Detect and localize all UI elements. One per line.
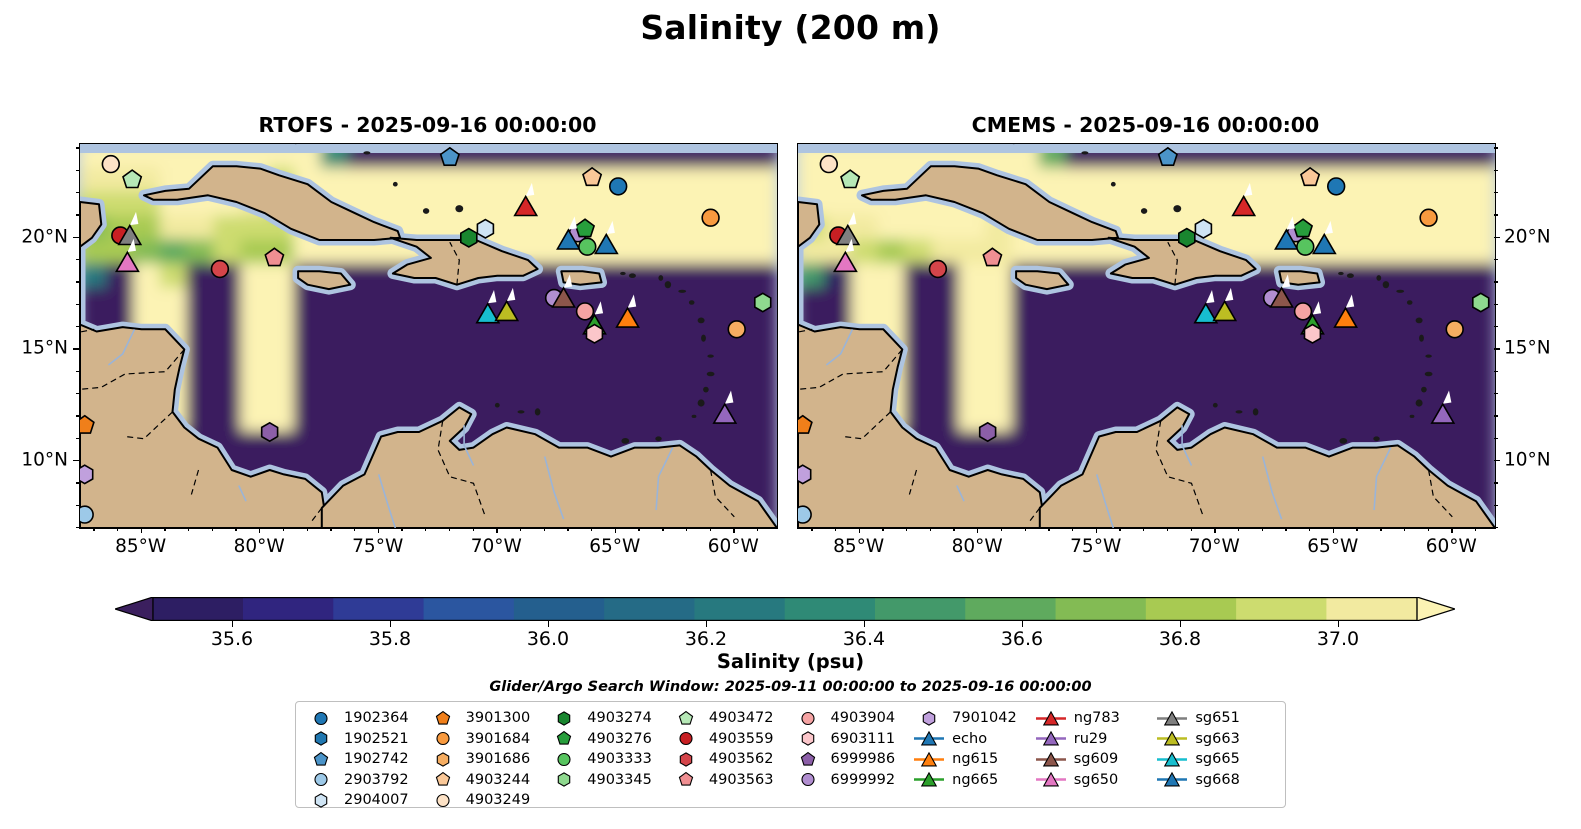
map-render-rtofs	[80, 144, 777, 528]
y-major-tick-1-1	[1494, 348, 1500, 349]
x-major-tick-1-2	[1096, 527, 1097, 533]
legend-marker-pentagon-icon	[426, 710, 460, 727]
map-panel-rtofs[interactable]	[79, 143, 778, 529]
legend-grid: 1902364390130049032744903472490390479010…	[304, 708, 1277, 811]
legend-box[interactable]: 1902364390130049032744903472490390479010…	[295, 701, 1286, 808]
legend-label: ng665	[952, 773, 998, 788]
colorbar-tick-label-7: 37.0	[1317, 628, 1359, 650]
legend-item-sg609[interactable]: sg609	[1034, 749, 1156, 770]
legend-label: 1902521	[344, 732, 409, 747]
legend-label: sg663	[1195, 732, 1239, 747]
legend-marker-pentagon-icon	[791, 751, 825, 768]
y-minor-tick-0-13	[76, 393, 80, 394]
legend-empty-cell	[1155, 790, 1277, 811]
legend-empty-cell	[791, 790, 913, 811]
x-minor-tick-1--79	[1001, 527, 1002, 531]
colorbar-tick-0	[232, 621, 233, 627]
legend-label: 4903333	[587, 752, 652, 767]
x-minor-tick-0--74	[401, 527, 402, 531]
legend-marker-circle-icon	[304, 710, 338, 727]
x-major-tick-1-3	[1214, 527, 1215, 533]
legend-item-4903904[interactable]: 4903904	[791, 708, 913, 729]
legend-label: 4903562	[709, 752, 774, 767]
x-major-tick-0-3	[496, 527, 497, 533]
x-minor-tick-0--81	[235, 527, 236, 531]
x-minor-tick-0--59	[757, 527, 758, 531]
y-minor-tick-0-12	[76, 415, 80, 416]
y-minor-tick-0-16	[76, 326, 80, 327]
legend-item-3901300[interactable]: 3901300	[426, 708, 548, 729]
y-minor-tick-0-22	[76, 192, 80, 193]
y-major-tick-1-0	[1494, 237, 1500, 238]
y-tick-label-right-0: 20°N	[1504, 226, 1551, 247]
legend-marker-triangle-icon	[1155, 751, 1189, 768]
x-tick-label-1-5: 60°W	[1426, 536, 1477, 557]
legend-item-4903563[interactable]: 4903563	[669, 770, 791, 791]
legend-item-sg668[interactable]: sg668	[1155, 770, 1277, 791]
legend-label: 6903111	[831, 732, 896, 747]
x-minor-tick-1--77	[1048, 527, 1049, 531]
x-minor-tick-1--62	[1404, 527, 1405, 531]
legend-label: ng615	[952, 752, 998, 767]
legend-marker-hexagon-icon	[547, 710, 581, 727]
search-window-caption: Glider/Argo Search Window: 2025-09-11 00…	[0, 679, 1581, 695]
y-minor-tick-1-8	[1494, 505, 1498, 506]
x-minor-tick-1--69	[1238, 527, 1239, 531]
legend-item-4903345[interactable]: 4903345	[547, 770, 669, 791]
y-minor-tick-0-23	[76, 170, 80, 171]
y-minor-tick-1-24	[1494, 147, 1498, 148]
legend-label: sg651	[1195, 711, 1239, 726]
legend-marker-triangle-icon	[912, 730, 946, 747]
legend-item-ng665[interactable]: ng665	[912, 770, 1034, 791]
x-major-tick-1-4	[1333, 527, 1334, 533]
colorbar-tick-label-3: 36.2	[685, 628, 727, 650]
x-minor-tick-0--71	[473, 527, 474, 531]
legend-item-4903244[interactable]: 4903244	[426, 770, 548, 791]
y-minor-tick-1-21	[1494, 214, 1498, 215]
y-tick-label-right-1: 15°N	[1504, 338, 1551, 359]
colorbar-tick-7	[1338, 621, 1339, 627]
y-tick-label-right-2: 10°N	[1504, 450, 1551, 471]
x-minor-tick-0--76	[354, 527, 355, 531]
colorbar-tick-5	[1022, 621, 1023, 627]
colorbar-tick-label-5: 36.6	[1001, 628, 1043, 650]
x-minor-tick-0--84	[164, 527, 165, 531]
legend-label: echo	[952, 732, 987, 747]
legend-item-sg650[interactable]: sg650	[1034, 770, 1156, 791]
legend-marker-triangle-icon	[1155, 710, 1189, 727]
y-minor-tick-0-11	[76, 438, 80, 439]
x-minor-tick-1--67	[1285, 527, 1286, 531]
legend-empty-cell	[1034, 790, 1156, 811]
x-tick-label-1-3: 70°W	[1189, 536, 1240, 557]
legend-item-4903249[interactable]: 4903249	[426, 790, 548, 811]
y-minor-tick-1-22	[1494, 192, 1498, 193]
legend-label: 4903563	[709, 773, 774, 788]
x-minor-tick-0--66	[591, 527, 592, 531]
colorbar-tick-label-4: 36.4	[843, 628, 885, 650]
legend-marker-hexagon-icon	[304, 730, 338, 747]
y-minor-tick-0-7	[76, 527, 80, 528]
panel-title-rtofs: RTOFS - 2025-09-16 00:00:00	[79, 113, 776, 137]
x-minor-tick-1--63	[1380, 527, 1381, 531]
x-major-tick-0-1	[259, 527, 260, 533]
x-minor-tick-1--84	[882, 527, 883, 531]
x-minor-tick-1--68	[1262, 527, 1263, 531]
x-minor-tick-0--72	[449, 527, 450, 531]
legend-item-4903559[interactable]: 4903559	[669, 729, 791, 750]
x-tick-label-0-5: 60°W	[708, 536, 759, 557]
colorbar-tick-label-2: 36.0	[527, 628, 569, 650]
legend-label: 3901686	[466, 752, 531, 767]
colorbar-tick-2	[548, 621, 549, 627]
y-tick-label-left-1: 15°N	[21, 338, 68, 359]
x-minor-tick-1--72	[1167, 527, 1168, 531]
x-minor-tick-1--71	[1191, 527, 1192, 531]
legend-item-1902521[interactable]: 1902521	[304, 729, 426, 750]
legend-item-4903562[interactable]: 4903562	[669, 749, 791, 770]
legend-empty-cell	[912, 790, 1034, 811]
x-minor-tick-0--64	[638, 527, 639, 531]
legend-label: 4903274	[587, 711, 652, 726]
x-minor-tick-1--78	[1025, 527, 1026, 531]
legend-empty-cell	[669, 790, 791, 811]
legend-item-4903276[interactable]: 4903276	[547, 729, 669, 750]
y-major-tick-1-2	[1494, 460, 1500, 461]
colorbar-tick-label-0: 35.6	[211, 628, 253, 650]
y-minor-tick-0-24	[76, 147, 80, 148]
legend-marker-circle-icon	[304, 771, 338, 788]
legend-marker-circle-icon	[426, 730, 460, 747]
legend-item-6999986[interactable]: 6999986	[791, 749, 913, 770]
x-minor-tick-0--68	[544, 527, 545, 531]
legend-label: ru29	[1074, 732, 1108, 747]
x-major-tick-1-1	[977, 527, 978, 533]
legend-label: 3901300	[466, 711, 531, 726]
legend-item-4903472[interactable]: 4903472	[669, 708, 791, 729]
x-tick-label-0-1: 80°W	[234, 536, 285, 557]
x-major-tick-1-5	[1451, 527, 1452, 533]
y-major-tick-0-2	[73, 460, 79, 461]
colorbar-tick-6	[1180, 621, 1181, 627]
y-minor-tick-1-18	[1494, 281, 1498, 282]
y-minor-tick-1-12	[1494, 415, 1498, 416]
legend-item-4903274[interactable]: 4903274	[547, 708, 669, 729]
y-major-tick-0-0	[73, 237, 79, 238]
x-minor-tick-0--83	[188, 527, 189, 531]
x-major-tick-0-5	[733, 527, 734, 533]
legend-item-1902742[interactable]: 1902742	[304, 749, 426, 770]
legend-label: sg668	[1195, 773, 1239, 788]
legend-item-6999992[interactable]: 6999992	[791, 770, 913, 791]
legend-label: 4903249	[466, 793, 531, 808]
legend-marker-hexagon-icon	[669, 751, 703, 768]
legend-marker-triangle-icon	[1034, 751, 1068, 768]
legend-item-2903792[interactable]: 2903792	[304, 770, 426, 791]
x-minor-tick-0--87	[93, 527, 94, 531]
x-minor-tick-1--76	[1072, 527, 1073, 531]
y-major-tick-0-1	[73, 348, 79, 349]
legend-marker-pentagon-icon	[426, 771, 460, 788]
x-minor-tick-1--82	[930, 527, 931, 531]
y-minor-tick-1-23	[1494, 170, 1498, 171]
colorbar-tick-label-6: 36.8	[1159, 628, 1201, 650]
legend-marker-hexagon-icon	[912, 710, 946, 727]
legend-marker-pentagon-icon	[669, 771, 703, 788]
legend-item-6903111[interactable]: 6903111	[791, 729, 913, 750]
x-tick-label-1-1: 80°W	[952, 536, 1003, 557]
x-minor-tick-0--78	[307, 527, 308, 531]
legend-marker-triangle-icon	[912, 751, 946, 768]
legend-empty-cell	[547, 790, 669, 811]
x-minor-tick-0--61	[710, 527, 711, 531]
legend-marker-hexagon-icon	[791, 730, 825, 747]
y-minor-tick-0-9	[76, 482, 80, 483]
y-minor-tick-1-14	[1494, 371, 1498, 372]
panel-title-cmems: CMEMS - 2025-09-16 00:00:00	[797, 113, 1494, 137]
legend-item-ru29[interactable]: ru29	[1034, 729, 1156, 750]
legend-label: 4903276	[587, 732, 652, 747]
colorbar[interactable]	[115, 597, 1455, 621]
x-minor-tick-0--82	[212, 527, 213, 531]
x-tick-label-1-4: 65°W	[1307, 536, 1358, 557]
x-minor-tick-1--83	[906, 527, 907, 531]
legend-label: 7901042	[952, 711, 1017, 726]
legend-marker-triangle-icon	[1155, 771, 1189, 788]
y-minor-tick-0-21	[76, 214, 80, 215]
x-minor-tick-1--66	[1309, 527, 1310, 531]
x-minor-tick-1--59	[1475, 527, 1476, 531]
legend-marker-triangle-icon	[1155, 730, 1189, 747]
x-tick-label-0-0: 85°W	[115, 536, 166, 557]
legend-item-7901042[interactable]: 7901042	[912, 708, 1034, 729]
legend-marker-circle-icon	[426, 792, 460, 809]
legend-marker-hexagon-icon	[547, 771, 581, 788]
legend-label: 2903792	[344, 773, 409, 788]
legend-marker-hexagon-icon	[304, 792, 338, 809]
colorbar-tick-4	[864, 621, 865, 627]
x-tick-label-0-3: 70°W	[471, 536, 522, 557]
legend-marker-triangle-icon	[912, 771, 946, 788]
legend-label: 4903472	[709, 711, 774, 726]
legend-marker-hexagon-icon	[426, 751, 460, 768]
y-minor-tick-0-19	[76, 259, 80, 260]
legend-item-sg651[interactable]: sg651	[1155, 708, 1277, 729]
x-minor-tick-1--81	[953, 527, 954, 531]
colorbar-label: Salinity (psu)	[0, 650, 1581, 673]
legend-item-3901684[interactable]: 3901684	[426, 729, 548, 750]
legend-item-ng783[interactable]: ng783	[1034, 708, 1156, 729]
legend-marker-circle-icon	[669, 730, 703, 747]
legend-item-sg663[interactable]: sg663	[1155, 729, 1277, 750]
legend-marker-pentagon-icon	[304, 751, 338, 768]
x-minor-tick-1--61	[1428, 527, 1429, 531]
legend-marker-pentagon-icon	[547, 730, 581, 747]
legend-marker-circle-icon	[791, 710, 825, 727]
x-major-tick-0-2	[378, 527, 379, 533]
legend-item-2904007[interactable]: 2904007	[304, 790, 426, 811]
legend-label: 3901684	[466, 732, 531, 747]
legend-marker-triangle-icon	[1034, 771, 1068, 788]
x-tick-label-1-0: 85°W	[833, 536, 884, 557]
y-minor-tick-0-8	[76, 505, 80, 506]
y-minor-tick-1-11	[1494, 438, 1498, 439]
y-minor-tick-1-13	[1494, 393, 1498, 394]
y-tick-label-left-2: 10°N	[21, 450, 68, 471]
legend-item-3901686[interactable]: 3901686	[426, 749, 548, 770]
x-minor-tick-1--64	[1356, 527, 1357, 531]
legend-label: 4903559	[709, 732, 774, 747]
legend-marker-circle-icon	[791, 771, 825, 788]
x-minor-tick-0--73	[425, 527, 426, 531]
legend-item-ng615[interactable]: ng615	[912, 749, 1034, 770]
y-tick-label-left-0: 20°N	[21, 226, 68, 247]
legend-marker-triangle-icon	[1034, 730, 1068, 747]
x-minor-tick-0--62	[686, 527, 687, 531]
legend-label: 2904007	[344, 793, 409, 808]
x-minor-tick-0--86	[117, 527, 118, 531]
legend-label: 1902364	[344, 711, 409, 726]
y-minor-tick-0-17	[76, 304, 80, 305]
y-minor-tick-1-17	[1494, 304, 1498, 305]
x-major-tick-0-4	[615, 527, 616, 533]
y-minor-tick-0-18	[76, 281, 80, 282]
y-minor-tick-0-14	[76, 371, 80, 372]
legend-label: sg609	[1074, 752, 1118, 767]
figure-canvas: Salinity (200 m) RTOFS - 2025-09-16 00:0…	[0, 0, 1581, 829]
legend-label: sg665	[1195, 752, 1239, 767]
legend-label: 4903244	[466, 773, 531, 788]
legend-marker-circle-icon	[547, 751, 581, 768]
legend-label: 1902742	[344, 752, 409, 767]
map-render-cmems	[798, 144, 1495, 528]
x-tick-label-1-2: 75°W	[1070, 536, 1121, 557]
y-minor-tick-1-9	[1494, 482, 1498, 483]
legend-label: 6999992	[831, 773, 896, 788]
x-tick-label-0-2: 75°W	[352, 536, 403, 557]
legend-marker-pentagon-icon	[669, 710, 703, 727]
x-major-tick-0-0	[141, 527, 142, 533]
map-panel-cmems[interactable]	[797, 143, 1496, 529]
legend-label: 4903345	[587, 773, 652, 788]
x-minor-tick-0--79	[283, 527, 284, 531]
legend-label: 4903904	[831, 711, 896, 726]
x-tick-label-0-4: 65°W	[589, 536, 640, 557]
x-minor-tick-0--69	[520, 527, 521, 531]
x-minor-tick-1--73	[1143, 527, 1144, 531]
legend-label: sg650	[1074, 773, 1118, 788]
legend-marker-triangle-icon	[1034, 710, 1068, 727]
x-minor-tick-1--86	[835, 527, 836, 531]
colorbar-tick-label-1: 35.8	[369, 628, 411, 650]
legend-item-1902364[interactable]: 1902364	[304, 708, 426, 729]
colorbar-tick-3	[706, 621, 707, 627]
legend-label: 6999986	[831, 752, 896, 767]
x-minor-tick-0--67	[567, 527, 568, 531]
legend-item-sg665[interactable]: sg665	[1155, 749, 1277, 770]
x-minor-tick-0--77	[330, 527, 331, 531]
x-minor-tick-1--87	[811, 527, 812, 531]
y-minor-tick-1-7	[1494, 527, 1498, 528]
legend-item-4903333[interactable]: 4903333	[547, 749, 669, 770]
legend-item-echo[interactable]: echo	[912, 729, 1034, 750]
y-minor-tick-1-19	[1494, 259, 1498, 260]
legend-label: ng783	[1074, 711, 1120, 726]
colorbar-tick-1	[390, 621, 391, 627]
x-major-tick-1-0	[859, 527, 860, 533]
x-minor-tick-1--74	[1119, 527, 1120, 531]
x-minor-tick-0--63	[662, 527, 663, 531]
page-title: Salinity (200 m)	[0, 8, 1581, 47]
y-minor-tick-1-16	[1494, 326, 1498, 327]
